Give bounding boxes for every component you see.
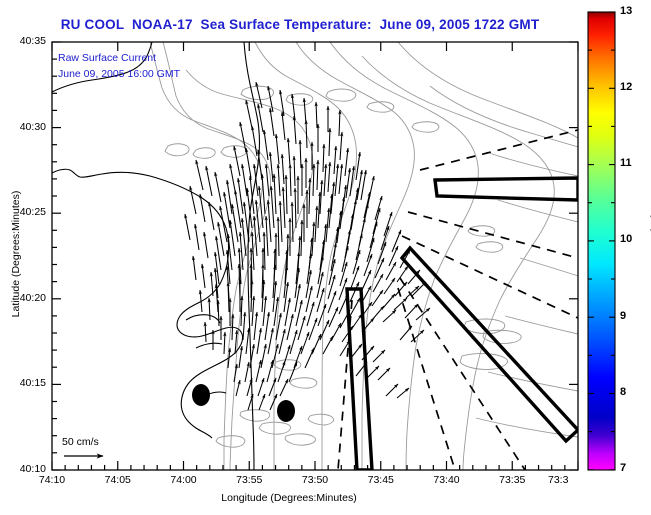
xtick-label: 73:55 bbox=[219, 474, 279, 486]
x-axis-title: Longitude (Degrees:Minutes) bbox=[0, 492, 578, 504]
figure-canvas: RU COOL NOAA-17 Sea Surface Temperature:… bbox=[0, 0, 651, 515]
ytick-label: 40:25 bbox=[0, 206, 46, 218]
ytick-label: 40:35 bbox=[0, 35, 46, 47]
xtick-label: 74:05 bbox=[88, 474, 148, 486]
xtick-label: 74:00 bbox=[154, 474, 214, 486]
annotation-line-2: June 09, 2005 16:00 GMT bbox=[58, 68, 180, 80]
xtick-label: 73:45 bbox=[351, 474, 411, 486]
xtick-label: 73:3 bbox=[548, 474, 608, 486]
ytick-label: 40:20 bbox=[0, 292, 46, 304]
plot-background bbox=[52, 42, 578, 470]
colorbar-tick-label: 7 bbox=[620, 462, 626, 474]
colorbar-tick-label: 9 bbox=[620, 310, 626, 322]
y-axis-title: Latitude (Degrees:Minutes) bbox=[10, 164, 22, 344]
ytick-label: 40:30 bbox=[0, 121, 46, 133]
station-marker bbox=[192, 384, 210, 406]
colorbar-tick-label: 10 bbox=[620, 233, 632, 245]
colorbar-tick-label: 13 bbox=[620, 5, 632, 17]
colorbar-tick-label: 8 bbox=[620, 386, 626, 398]
xtick-label: 74:10 bbox=[22, 474, 82, 486]
xtick-label: 73:35 bbox=[482, 474, 542, 486]
xtick-label: 73:40 bbox=[417, 474, 477, 486]
xtick-label: 73:50 bbox=[285, 474, 345, 486]
colorbar-tick-label: 11 bbox=[620, 157, 632, 169]
station-marker bbox=[277, 400, 295, 422]
annotation-line-1: Raw Surface Current bbox=[58, 52, 156, 64]
ytick-label: 40:15 bbox=[0, 377, 46, 389]
scalebar-label: 50 cm/s bbox=[62, 436, 99, 448]
colorbar-tick-label: 12 bbox=[620, 81, 632, 93]
colorbar bbox=[588, 12, 615, 470]
